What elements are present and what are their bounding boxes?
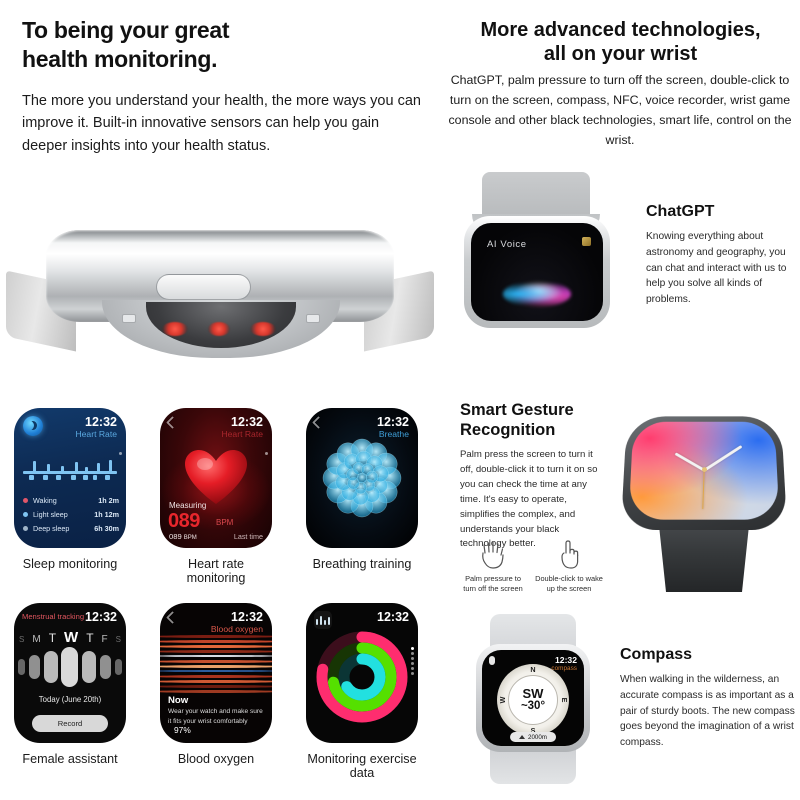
spo2-now-label: Now [168, 695, 188, 706]
product-feature-page: To being your great health monitoring. T… [0, 0, 800, 800]
legend-label-light-sleep: Light sleep [33, 510, 94, 519]
palm-gesture-caption: Palm pressure to turn off the screen [458, 574, 528, 594]
compass-watch: 12:32 compass N E S W SW ~30° 2000m [470, 614, 596, 784]
heart-last-label: Last time [234, 532, 263, 541]
tile-sleep-monitoring[interactable]: 12:32 Heart Rate [14, 408, 126, 571]
gesture-title-line1: Smart Gesture [460, 400, 602, 420]
chatgpt-card: ChatGPT Knowing everything about astrono… [646, 203, 796, 308]
spo2-hint-text: Wear your watch and make sure it fits yo… [168, 707, 266, 726]
heart-time: 12:32 [231, 415, 263, 429]
sleep-moon-icon [23, 416, 43, 436]
compass-time: 12:32 [555, 655, 577, 665]
compass-degrees: ~30° [521, 700, 545, 713]
compass-watch-case: 12:32 compass N E S W SW ~30° 2000m [476, 644, 590, 752]
ai-voice-watch: AI Voice [462, 172, 612, 332]
legend-row-waking: Waking 1h 2m [23, 496, 119, 505]
day-pill-thu [82, 651, 96, 683]
palm-hand-icon [476, 538, 510, 572]
left-paragraph: The more you understand your health, the… [22, 90, 422, 157]
record-button[interactable]: Record [32, 715, 108, 732]
heart-measuring-label: Measuring [169, 501, 206, 510]
heart-last-number: 089 [169, 532, 182, 541]
gradient-watch-screen [629, 422, 780, 520]
clock-center-pin-icon [701, 467, 706, 472]
chatgpt-title: ChatGPT [646, 203, 796, 221]
compass-card-paragraph: When walking in the wilderness, an accur… [620, 672, 798, 751]
sleep-page-dots [119, 452, 122, 455]
left-headline-line2: health monitoring. [22, 45, 422, 74]
right-paragraph: ChatGPT, palm pressure to turn off the s… [440, 70, 800, 150]
day-pill-tue [44, 651, 58, 683]
weekday-wed: W [64, 629, 78, 646]
breathe-watch-face: 12:32 Breathe [306, 408, 418, 548]
legend-row-light-sleep: Light sleep 1h 12m [23, 510, 119, 519]
heart-subtitle: Heart Rate [221, 429, 263, 439]
back-chevron-icon[interactable] [166, 611, 179, 624]
sleep-subtitle: Heart Rate [75, 429, 117, 439]
pointing-finger-icon [552, 538, 586, 572]
legend-value-light-sleep: 1h 12m [94, 510, 119, 519]
gesture-item-doubleclick: Double-click to wake up the screen [534, 538, 604, 594]
legend-row-deep-sleep: Deep sleep 6h 30m [23, 524, 119, 533]
heart-icon [183, 448, 249, 506]
compass-dial: N E S W SW ~30° [497, 664, 569, 736]
back-chevron-icon[interactable] [166, 416, 179, 429]
spo2-percent-value: 97% [174, 725, 191, 735]
spo2-wave-graphic [160, 631, 272, 697]
weekday-sun: S [19, 635, 24, 644]
tile-caption-sleep: Sleep monitoring [14, 557, 126, 571]
ppg-led-center-icon [208, 322, 230, 336]
minute-hand-icon [703, 445, 742, 471]
tile-caption-breathe: Breathing training [306, 557, 418, 571]
tile-caption-spo2: Blood oxygen [160, 752, 272, 766]
today-date-label: Today (June 20th) [14, 695, 126, 704]
sleep-time: 12:32 [85, 415, 117, 429]
day-pill-wed [61, 647, 78, 687]
legend-value-deep-sleep: 6h 30m [94, 524, 119, 533]
sleep-stage-chart [23, 460, 117, 486]
gradient-display-watch [618, 412, 790, 594]
legend-label-deep-sleep: Deep sleep [33, 524, 94, 533]
day-pill-mon [29, 655, 40, 679]
ai-watch-screen: AI Voice [471, 223, 603, 321]
activity-rings-graphic [306, 621, 418, 733]
ppg-led-right-icon [250, 322, 276, 336]
watch-sensor-back [102, 300, 340, 358]
tile-caption-heart: Heart rate monitoring [160, 557, 272, 585]
watch-side-profile-photo [6, 200, 434, 370]
left-headline: To being your great health monitoring. [22, 16, 422, 73]
menstrual-tracking-label: Menstrual tracking [22, 612, 84, 621]
tile-exercise-data[interactable]: 12:32 Monitoring exercise data [306, 603, 418, 780]
heart-last-unit: BPM [184, 535, 197, 541]
gesture-icon-row: Palm pressure to turn off the screen Dou… [458, 538, 604, 594]
female-time: 12:32 [85, 610, 117, 624]
back-chevron-icon[interactable] [312, 416, 325, 429]
tile-blood-oxygen[interactable]: 12:32 Blood oxygen Now Wear your watch a… [160, 603, 272, 766]
legend-dot-light-sleep [23, 512, 28, 517]
heart-bpm-value: 089 [168, 510, 200, 533]
compass-direction: SW [523, 687, 544, 700]
day-pill-sat [115, 659, 122, 675]
hour-hand-icon [675, 453, 705, 472]
compass-readout: SW ~30° [508, 675, 558, 725]
compass-altitude-badge: 2000m [510, 732, 556, 742]
ai-voice-label: AI Voice [487, 239, 527, 250]
day-pill-fri [100, 655, 111, 679]
compass-cardinal-west: W [498, 697, 507, 704]
weekday-mon: M [32, 634, 40, 645]
chatgpt-paragraph: Knowing everything about astronomy and g… [646, 229, 796, 308]
gesture-item-palm: Palm pressure to turn off the screen [458, 538, 528, 594]
gesture-title: Smart Gesture Recognition [460, 400, 602, 440]
day-pill-sun [18, 659, 25, 675]
legend-value-waking: 1h 2m [98, 496, 119, 505]
mountain-icon [519, 735, 525, 739]
breathe-flower-icon [319, 435, 405, 521]
compass-card-title: Compass [620, 646, 798, 664]
tile-caption-rings: Monitoring exercise data [306, 752, 418, 780]
weekday-thu: T [86, 631, 93, 645]
gesture-paragraph: Palm press the screen to turn it off, do… [460, 448, 602, 552]
heart-watch-face: 12:32 Heart Rate Measuring 089 BPM 089 [160, 408, 272, 548]
right-headline-line1: More advanced technologies, [448, 18, 793, 42]
right-headline-line2: all on your wrist [448, 42, 793, 66]
female-watch-face: Menstrual tracking 12:32 S M T W T F S T… [14, 603, 126, 743]
crown-badge-icon [582, 237, 591, 246]
legend-dot-deep-sleep [23, 526, 28, 531]
smart-gesture-card: Smart Gesture Recognition Palm press the… [460, 400, 602, 552]
compass-cardinal-east: E [560, 698, 569, 703]
tile-caption-female: Female assistant [14, 752, 126, 766]
right-headline: More advanced technologies, all on your … [448, 18, 793, 67]
day-pill-row [18, 647, 122, 687]
heart-last-value: 089 BPM [169, 532, 197, 541]
legend-dot-waking [23, 498, 28, 503]
ppg-led-left-icon [162, 322, 188, 336]
sensor-cluster [146, 302, 296, 348]
menu-pill-icon[interactable] [489, 656, 495, 665]
compass-watch-screen: 12:32 compass N E S W SW ~30° 2000m [482, 650, 584, 746]
sleep-legend: Waking 1h 2m Light sleep 1h 12m Deep sle… [23, 496, 119, 538]
tile-heart-rate[interactable]: 12:32 Heart Rate Measuring 089 BPM 089 [160, 408, 272, 585]
compass-card: Compass When walking in the wilderness, … [620, 646, 798, 751]
activity-watch-face: 12:32 [306, 603, 418, 743]
sleep-watch-face: 12:32 Heart Rate [14, 408, 126, 548]
heart-bpm-unit: BPM [216, 518, 233, 527]
voice-assistant-orb-icon [503, 281, 571, 307]
gesture-title-line2: Recognition [460, 420, 602, 440]
spo2-watch-face: 12:32 Blood oxygen Now Wear your watch a… [160, 603, 272, 743]
band-lug-right [306, 314, 320, 323]
compass-cardinal-north: N [530, 665, 535, 674]
tile-breathing-training[interactable]: 12:32 Breathe Breathing training [306, 408, 418, 571]
ai-watch-case: AI Voice [464, 216, 610, 328]
weekday-row: S M T W T F S [19, 629, 121, 646]
spo2-time: 12:32 [231, 610, 263, 624]
left-headline-line1: To being your great [22, 16, 422, 45]
legend-label-waking: Waking [33, 496, 98, 505]
weekday-tue: T [49, 631, 56, 645]
weekday-sat: S [116, 635, 121, 644]
compass-altitude-value: 2000m [528, 734, 547, 741]
gradient-watch-case [621, 416, 787, 530]
band-lug-left [122, 314, 136, 323]
doubleclick-gesture-caption: Double-click to wake up the screen [534, 574, 604, 594]
heart-page-dots [265, 452, 268, 455]
tile-female-assistant[interactable]: Menstrual tracking 12:32 S M T W T F S T… [14, 603, 126, 766]
breathe-time: 12:32 [377, 415, 409, 429]
watch-side-button [156, 274, 251, 300]
second-hand-icon [702, 470, 705, 509]
weekday-fri: F [102, 634, 108, 645]
